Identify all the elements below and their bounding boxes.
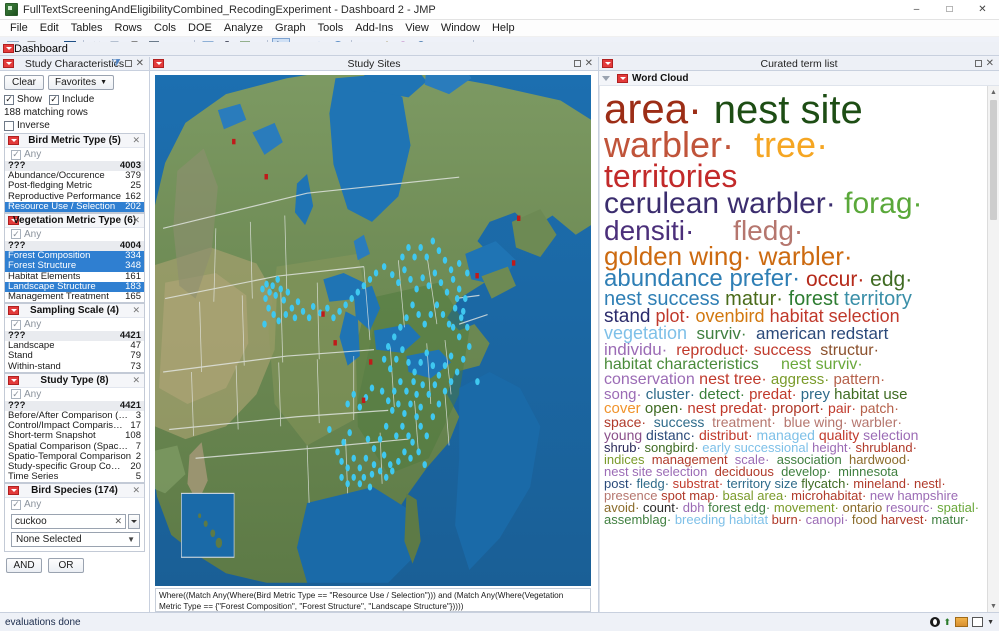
status-message: evaluations done xyxy=(5,617,81,628)
filter-row[interactable]: Forest Composition334 xyxy=(5,251,144,261)
close-icon[interactable]: ✕ xyxy=(986,59,994,69)
word-cloud-line: individu· reproduct· success structur· xyxy=(604,341,986,357)
word-cloud-term[interactable]: patch· xyxy=(856,401,899,415)
filter-row-label: Stand xyxy=(8,351,33,361)
word-cloud-line: warbler· tree· xyxy=(604,127,986,160)
word-cloud-line: nest success matur· forest territory xyxy=(604,289,986,307)
filter-funnel-icon[interactable]: ⧩ xyxy=(112,58,121,69)
window-controls: – □ ✕ xyxy=(900,0,999,20)
status-bar: evaluations done ⬆ ▼ xyxy=(0,612,999,631)
curated-term-list-header: Curated term list ✕ xyxy=(599,57,999,71)
word-cloud-term[interactable]: food xyxy=(848,513,877,526)
any-label: Any xyxy=(24,229,41,240)
filter-row-label: Spatial Comparison (Space for Time) xyxy=(8,442,132,452)
status-icons: ⬆ ▼ xyxy=(930,617,999,628)
curated-term-list-title: Curated term list xyxy=(599,58,999,70)
species-search-input[interactable]: cuckoo✕ xyxy=(11,514,126,529)
favorites-label: Favorites xyxy=(55,77,96,88)
title-bar: FullTextScreeningAndEligibilityCombined_… xyxy=(0,0,999,20)
word-cloud-menu-icon[interactable] xyxy=(617,74,628,83)
filter-group-header: Vegetation Metric Type (6)✕ xyxy=(5,214,144,228)
curated-term-list-menu-icon[interactable] xyxy=(602,59,613,68)
filter-row[interactable]: Spatial Comparison (Space for Time)7 xyxy=(5,442,144,452)
scroll-up-icon[interactable]: ▲ xyxy=(988,86,999,98)
curated-term-list-pane: Curated term list ✕ Word Cloud area· nes… xyxy=(599,57,999,612)
menu-item-view[interactable]: View xyxy=(399,21,435,35)
menu-item-tables[interactable]: Tables xyxy=(65,21,109,35)
disclosure-triangle-icon[interactable] xyxy=(602,76,610,81)
any-checkbox[interactable]: Any xyxy=(5,498,144,511)
filter-row-count: 5 xyxy=(132,472,141,482)
word-cloud-term[interactable]: breeding habitat xyxy=(671,513,768,526)
filter-row-count: 165 xyxy=(121,292,141,302)
menu-item-doe[interactable]: DOE xyxy=(182,21,218,35)
word-cloud-line: habitat characteristics nest surviv· xyxy=(604,357,986,372)
filter-row-count: 202 xyxy=(121,202,141,212)
word-cloud-line: cerulean warbler· forag· xyxy=(604,189,986,217)
status-box-icon[interactable] xyxy=(972,617,983,627)
word-cloud-term[interactable]: ovenbird xyxy=(691,307,765,325)
study-characteristics-header: Study Characteristics ⧩ ✕ xyxy=(0,57,149,71)
filter-row-label: Resource Use / Selection xyxy=(8,202,115,212)
species-search-row: cuckoo✕ xyxy=(11,514,140,529)
menu-item-analyze[interactable]: Analyze xyxy=(218,21,269,35)
filter-row-label: Landscape xyxy=(8,341,54,351)
word-cloud-term[interactable] xyxy=(836,189,844,219)
restore-icon[interactable] xyxy=(975,60,982,67)
word-cloud-term[interactable]: assemblag· xyxy=(604,513,671,526)
record-indicator-icon[interactable] xyxy=(930,617,940,627)
filter-groups: Bird Metric Type (5)✕Any???4003Abundance… xyxy=(0,133,149,552)
filter-row[interactable]: Before/After Comparison (BA)3 xyxy=(5,411,144,421)
restore-icon[interactable] xyxy=(574,60,581,67)
filter-group: Sampling Scale (4)✕Any???4421Landscape47… xyxy=(4,303,145,373)
menu-item-graph[interactable]: Graph xyxy=(269,21,312,35)
filter-group: Vegetation Metric Type (6)✕Any???4004For… xyxy=(4,213,145,303)
window-layout-icon[interactable] xyxy=(955,617,968,627)
filter-row-label: Landscape Structure xyxy=(8,282,96,292)
close-icon[interactable]: ✕ xyxy=(132,305,144,316)
filter-row-label: Before/After Comparison (BA) xyxy=(8,411,132,421)
filter-group-title: Study Type (8) xyxy=(5,375,144,386)
word-cloud-line: stand plot· ovenbird habitat selection xyxy=(604,307,986,324)
filter-row-label: Spatio-Temporal Comparison xyxy=(8,452,131,462)
word-cloud-term[interactable]: american redstart xyxy=(747,325,889,342)
word-cloud-header: Word Cloud xyxy=(599,71,999,86)
and-button[interactable]: AND xyxy=(6,558,42,573)
maximize-button[interactable]: □ xyxy=(933,0,966,20)
checkbox-icon xyxy=(11,389,21,399)
word-cloud-line: area· nest site xyxy=(604,88,986,127)
filter-group-title: Bird Species (174) xyxy=(5,485,144,496)
scroll-down-icon[interactable]: ▼ xyxy=(988,600,999,612)
study-characteristics-menu-icon[interactable] xyxy=(3,59,14,68)
include-checkbox[interactable]: Include xyxy=(49,94,94,105)
filter-row-label: Habitat Elements xyxy=(8,272,80,282)
filter-row[interactable]: Reproductive Performance162 xyxy=(5,192,144,202)
filter-row-label: Management Treatment xyxy=(8,292,109,302)
menu-item-help[interactable]: Help xyxy=(486,21,521,35)
word-cloud-line: conservation nest tree· aggress· pattern… xyxy=(604,372,986,387)
word-cloud-line: cover open· nest predat· proport· pair· … xyxy=(604,401,986,415)
any-checkbox[interactable]: Any xyxy=(5,228,144,241)
word-cloud-line: golden wing· warbler· xyxy=(604,243,986,267)
menu-item-add-ins[interactable]: Add-Ins xyxy=(349,21,399,35)
dashboard-title: Dashboard xyxy=(14,43,68,55)
word-cloud-term[interactable]: pattern· xyxy=(829,372,885,387)
word-cloud-term[interactable]: tree· xyxy=(754,127,828,163)
species-search-value: cuckoo xyxy=(15,516,114,527)
filter-row-label: Post-fledging Metric xyxy=(8,181,92,191)
app-icon xyxy=(5,3,18,16)
close-button[interactable]: ✕ xyxy=(966,0,999,20)
filter-row[interactable]: Abundance/Occurence379 xyxy=(5,171,144,181)
close-icon[interactable]: ✕ xyxy=(132,375,144,386)
word-cloud-term[interactable]: pair· xyxy=(824,401,856,415)
favorites-button[interactable]: Favorites ▼ xyxy=(48,75,114,90)
close-icon[interactable]: ✕ xyxy=(132,215,144,226)
filter-group-header: Bird Species (174)✕ xyxy=(5,484,144,498)
menu-item-edit[interactable]: Edit xyxy=(34,21,65,35)
and-or-buttons: AND OR xyxy=(0,552,149,573)
any-label: Any xyxy=(24,389,41,400)
filter-row[interactable]: Time Series5 xyxy=(5,472,144,482)
filter-row-label: Forest Composition xyxy=(8,251,90,261)
panes-container: Study Characteristics ⧩ ✕ Clear Favorite… xyxy=(0,57,999,612)
word-cloud-scrollbar[interactable]: ▲ ▼ xyxy=(987,86,999,612)
chevron-down-icon[interactable] xyxy=(128,514,140,529)
word-cloud-term[interactable]: aggress· xyxy=(767,372,830,387)
filter-row[interactable]: Landscape47 xyxy=(5,341,144,351)
scroll-thumb[interactable] xyxy=(990,100,997,220)
study-sites-header: Study Sites ✕ xyxy=(150,57,598,71)
word-cloud-line: assemblag· breeding habitat burn· canopi… xyxy=(604,513,986,525)
word-cloud-term[interactable]: habitat selection xyxy=(765,307,900,325)
word-cloud-term[interactable]: burn· xyxy=(768,513,802,526)
menu-item-rows[interactable]: Rows xyxy=(109,21,149,35)
close-icon[interactable]: ✕ xyxy=(136,59,144,69)
species-selection-box[interactable]: None Selected▼ xyxy=(11,532,140,547)
dashboard-window: Dashboard Study Characteristics ⧩ ✕ xyxy=(0,42,999,612)
any-checkbox[interactable]: Any xyxy=(5,388,144,401)
filter-row-label: Within-stand xyxy=(8,362,61,372)
jmp-application-window: FullTextScreeningAndEligibilityCombined_… xyxy=(0,0,999,631)
close-icon[interactable]: ✕ xyxy=(132,135,144,146)
checkbox-icon xyxy=(4,121,14,131)
filter-row-label: Forest Structure xyxy=(8,261,76,271)
filter-row[interactable]: ???4003 xyxy=(5,161,144,171)
word-cloud-term[interactable]: forag· xyxy=(844,189,922,219)
filter-row-label: Abundance/Occurence xyxy=(8,171,105,181)
checkbox-icon xyxy=(49,95,59,105)
filter-formula-text: Where((Match Any(Where(Bird Metric Type … xyxy=(155,588,591,612)
any-label: Any xyxy=(24,149,41,160)
checkbox-icon xyxy=(11,229,21,239)
restore-icon[interactable] xyxy=(125,60,132,67)
show-checkbox[interactable]: Show xyxy=(4,94,42,105)
inverse-label: Inverse xyxy=(17,120,50,131)
filter-group-header: Study Type (8)✕ xyxy=(5,374,144,388)
filter-row-label: ??? xyxy=(8,401,25,411)
filter-row[interactable]: Landscape Structure183 xyxy=(5,282,144,292)
menu-item-file[interactable]: File xyxy=(4,21,34,35)
upload-icon[interactable]: ⬆ xyxy=(944,617,952,628)
clear-button[interactable]: Clear xyxy=(4,75,44,90)
filter-row-label: ??? xyxy=(8,161,25,171)
filter-row-label: Short-term Snapshot xyxy=(8,431,96,441)
data-filter-body: Clear Favorites ▼ Show xyxy=(0,71,149,612)
filter-row-label: Reproductive Performance xyxy=(8,192,121,202)
map-container: Where((Match Any(Where(Bird Metric Type … xyxy=(150,71,598,612)
filter-row[interactable]: ???4004 xyxy=(5,241,144,251)
word-cloud-term[interactable]: surviv· xyxy=(687,325,747,342)
word-cloud-title: Word Cloud xyxy=(632,73,688,84)
filter-row-count: 348 xyxy=(121,261,141,271)
dropdown-icon[interactable]: ▼ xyxy=(987,619,994,626)
window-title: FullTextScreeningAndEligibilityCombined_… xyxy=(23,4,436,16)
filter-row[interactable]: Spatio-Temporal Comparison2 xyxy=(5,452,144,462)
checkbox-icon xyxy=(11,500,21,510)
include-label: Include xyxy=(62,94,94,105)
filter-row-label: ??? xyxy=(8,331,25,341)
close-icon[interactable]: ✕ xyxy=(585,59,593,69)
filter-group: Study Type (8)✕Any???4421Before/After Co… xyxy=(4,373,145,484)
filter-row-label: ??? xyxy=(8,241,25,251)
clear-x-icon[interactable]: ✕ xyxy=(114,516,122,527)
filter-group: Bird Metric Type (5)✕Any???4003Abundance… xyxy=(4,133,145,213)
filter-row[interactable]: Forest Structure348 xyxy=(5,261,144,271)
word-cloud-term[interactable]: occur· xyxy=(800,269,864,290)
filter-row[interactable]: Short-term Snapshot108 xyxy=(5,431,144,441)
chevron-down-icon: ▼ xyxy=(127,535,135,544)
chevron-down-icon: ▼ xyxy=(100,79,107,86)
study-characteristics-pane: Study Characteristics ⧩ ✕ Clear Favorite… xyxy=(0,57,150,612)
filter-row[interactable]: Within-stand73 xyxy=(5,362,144,372)
study-sites-title: Study Sites xyxy=(150,58,598,70)
word-cloud-line: vegetation surviv· american redstart xyxy=(604,324,986,341)
word-cloud-line: song· cluster· detect· predat· prey habi… xyxy=(604,387,986,401)
filter-row-label: Time Series xyxy=(8,472,58,482)
filter-row[interactable]: Post-fledging Metric25 xyxy=(5,181,144,191)
filter-group-title: Vegetation Metric Type (6) xyxy=(5,215,144,226)
data-filter-controls: Clear Favorites ▼ Show xyxy=(0,71,149,133)
filter-row-label: Study-specific Group Comparison xyxy=(8,462,126,472)
bird-species-filter-group: Bird Species (174)✕Anycuckoo✕None Select… xyxy=(4,483,145,552)
species-selection-value: None Selected xyxy=(16,534,82,545)
minimize-button[interactable]: – xyxy=(900,0,933,20)
any-label: Any xyxy=(24,319,41,330)
filter-group-header: Bird Metric Type (5)✕ xyxy=(5,134,144,148)
filter-row-count: 73 xyxy=(126,362,141,372)
filter-row[interactable]: ???4421 xyxy=(5,331,144,341)
checkbox-icon xyxy=(4,95,14,105)
show-label: Show xyxy=(17,94,42,105)
word-cloud-term[interactable]: matur· xyxy=(928,513,969,526)
map-graph[interactable] xyxy=(155,75,591,586)
filter-group-title: Bird Metric Type (5) xyxy=(5,135,144,146)
or-button[interactable]: OR xyxy=(48,558,84,573)
filter-row[interactable]: Habitat Elements161 xyxy=(5,272,144,282)
menu-bar: FileEditTablesRowsColsDOEAnalyzeGraphToo… xyxy=(0,20,999,37)
filter-row[interactable]: Control/Impact Comparison (CI)17 xyxy=(5,421,144,431)
word-cloud-term[interactable]: harvest· xyxy=(877,513,928,526)
dashboard-menu-icon[interactable] xyxy=(3,44,14,53)
close-icon[interactable]: ✕ xyxy=(132,485,144,496)
menu-item-window[interactable]: Window xyxy=(435,21,486,35)
word-cloud-term[interactable]: canopi· xyxy=(802,513,848,526)
dashboard-header: Dashboard xyxy=(0,42,999,56)
word-cloud-line: densiti· fledg· xyxy=(604,217,986,243)
filter-row[interactable]: Resource Use / Selection202 xyxy=(5,202,144,212)
word-cloud-term[interactable] xyxy=(734,127,754,163)
word-cloud-body: area· nest sitewarbler· tree·territories… xyxy=(599,86,999,612)
menu-item-cols[interactable]: Cols xyxy=(148,21,182,35)
filter-row[interactable]: Stand79 xyxy=(5,351,144,361)
study-sites-menu-icon[interactable] xyxy=(153,59,164,68)
filter-row-label: Control/Impact Comparison (CI) xyxy=(8,421,126,431)
study-sites-pane: Study Sites ✕ xyxy=(150,57,599,612)
matching-rows-label: 188 matching rows xyxy=(4,107,145,118)
word-cloud-term[interactable]: edg· xyxy=(864,269,912,290)
filter-row[interactable]: Management Treatment165 xyxy=(5,292,144,302)
inverse-checkbox[interactable]: Inverse xyxy=(4,120,145,131)
filter-group-title: Sampling Scale (4) xyxy=(5,305,144,316)
filter-group-header: Sampling Scale (4)✕ xyxy=(5,304,144,318)
word-cloud-canvas[interactable]: area· nest sitewarbler· tree·territories… xyxy=(604,88,986,612)
menu-item-tools[interactable]: Tools xyxy=(312,21,350,35)
filter-row[interactable]: Study-specific Group Comparison20 xyxy=(5,462,144,472)
checkbox-icon xyxy=(11,150,21,160)
any-label: Any xyxy=(24,499,41,510)
map-svg xyxy=(155,75,591,586)
checkbox-icon xyxy=(11,320,21,330)
filter-row[interactable]: ???4421 xyxy=(5,401,144,411)
word-cloud-line: abundance prefer· occur· edg· xyxy=(604,267,986,289)
